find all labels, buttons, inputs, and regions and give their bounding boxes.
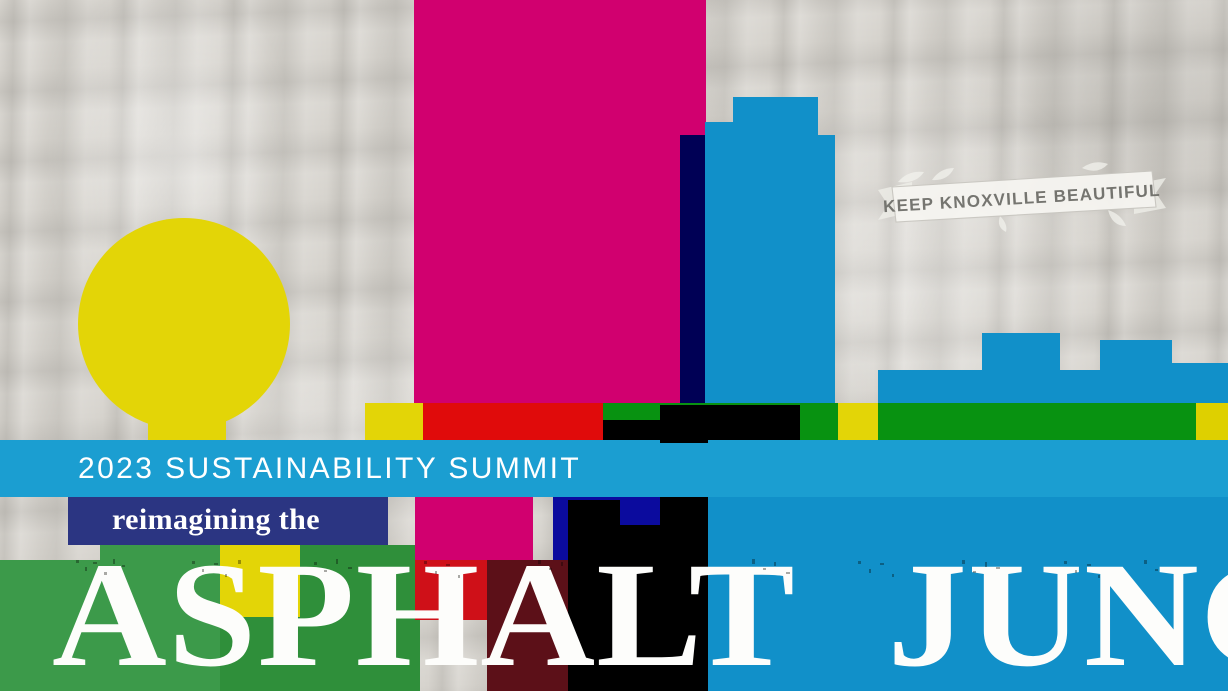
page-title: ASPHALT JUNGLE: [52, 540, 1228, 690]
keep-knoxville-beautiful-logo[interactable]: KEEP KNOXVILLE BEAUTIFUL: [872, 160, 1172, 232]
logo-banner-icon: KEEP KNOXVILLE BEAUTIFUL: [872, 160, 1172, 232]
headline-word-jungle: JUNGLE: [887, 532, 1228, 691]
blue-skyline-peak-a: [982, 333, 1060, 393]
blue-tower-main: [705, 122, 793, 422]
magenta-column: [414, 0, 706, 420]
headline-word-asphalt: ASPHALT: [52, 532, 796, 691]
blue-tower-cap: [733, 97, 818, 137]
poster-canvas: KEEP KNOXVILLE BEAUTIFUL 2023 SUSTAINABI…: [0, 0, 1228, 691]
blue-tower-shoulder: [793, 135, 835, 420]
summit-tagline: 2023 SUSTAINABILITY SUMMIT: [78, 452, 581, 486]
